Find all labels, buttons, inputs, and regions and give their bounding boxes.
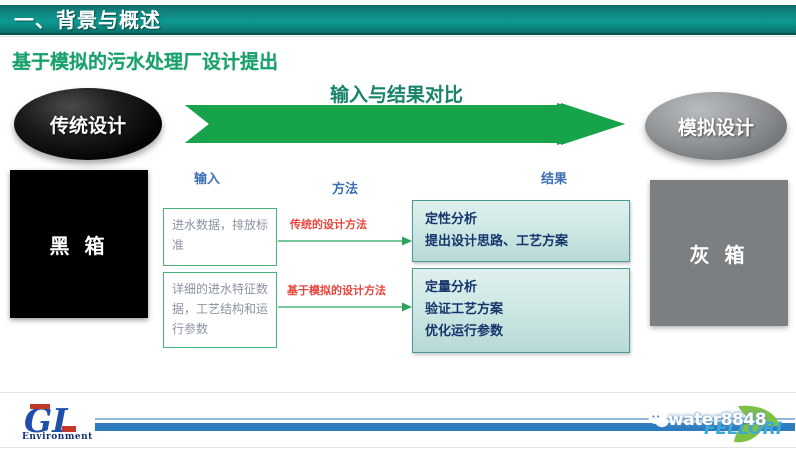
simulation-design-ellipse: 模拟设计 xyxy=(645,92,787,160)
connector-arrow-2 xyxy=(278,297,412,307)
footer-divider-bottom xyxy=(0,447,796,448)
slide-canvas: 一、背景与概述 基于模拟的污水处理厂设计提出 输入与结果对比 传统设计 模拟设计… xyxy=(0,0,796,455)
column-caption-method: 方法 xyxy=(332,178,358,197)
result-line: 定量分析 xyxy=(425,277,617,299)
result-line: 定性分析 xyxy=(425,209,617,231)
header-divider xyxy=(0,36,796,37)
subtitle: 基于模拟的污水处理厂设计提出 xyxy=(12,47,278,74)
input-box-2: 详细的进水特征数据，工艺结构和运行参数 xyxy=(163,272,277,348)
gl-logo-subtitle: Environment xyxy=(22,432,93,442)
method-label-1: 传统的设计方法 xyxy=(290,216,367,232)
result-line: 提出设计思路、工艺方案 xyxy=(425,231,617,253)
simulation-design-label: 模拟设计 xyxy=(678,113,754,140)
result-line: 优化运行参数 xyxy=(425,321,617,343)
gray-box: 灰 箱 xyxy=(650,180,788,326)
input-box-1: 进水数据，排放标准 xyxy=(163,208,277,266)
watermark-text: water8848 xyxy=(668,410,766,430)
traditional-design-ellipse: 传统设计 xyxy=(14,88,162,160)
footer-divider-top xyxy=(0,392,796,393)
connector-arrow-1 xyxy=(278,231,412,241)
wechat-icon xyxy=(648,410,670,430)
result-box-1: 定性分析 提出设计思路、工艺方案 xyxy=(412,200,630,262)
traditional-design-label: 传统设计 xyxy=(50,111,126,138)
result-line: 验证工艺方案 xyxy=(425,299,617,321)
method-label-2: 基于模拟的设计方法 xyxy=(287,282,386,298)
comparison-arrow xyxy=(185,103,625,145)
gray-box-label: 灰 箱 xyxy=(690,239,749,268)
black-box: 黑 箱 xyxy=(10,170,148,318)
result-box-2: 定量分析 验证工艺方案 优化运行参数 xyxy=(412,268,630,353)
column-caption-input: 输入 xyxy=(194,168,220,187)
column-caption-result: 结果 xyxy=(541,168,567,187)
black-box-label: 黑 箱 xyxy=(50,230,109,259)
page-title: 一、背景与概述 xyxy=(14,4,161,33)
